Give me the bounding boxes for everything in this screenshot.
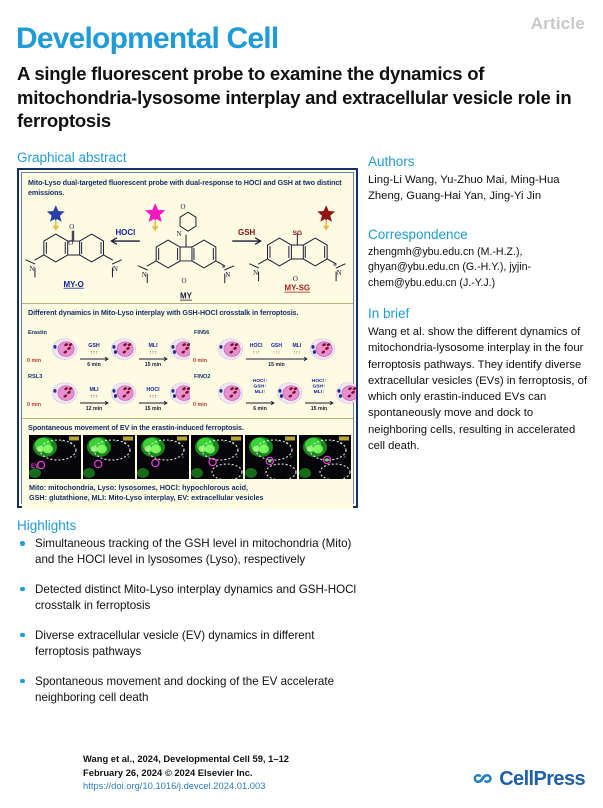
ga-panel1-caption: Mito-Lyso dual-targeted fluorescent prob… (28, 178, 350, 197)
bullet-icon (20, 633, 25, 638)
svg-text:↑↑↑: ↑↑↑ (273, 350, 281, 356)
ga-legend: Mito: mitochondria, Lyso: lysosomes, HOC… (29, 483, 351, 503)
svg-text:N: N (225, 271, 230, 279)
authors-heading: Authors (368, 154, 592, 169)
svg-text:N: N (142, 271, 147, 279)
ev-frame: EV (29, 435, 81, 479)
svg-text:↑↑↑: ↑↑↑ (90, 394, 99, 400)
svg-text:GSH: GSH (88, 343, 100, 349)
compound-my-label: MY (180, 292, 193, 301)
ev-frame (191, 435, 243, 479)
chemical-reaction-scheme: O O N N O N N N O O N N ⊕ ⊕ (22, 199, 353, 303)
svg-text:15 min: 15 min (145, 362, 161, 368)
reagent-hocl-label: HOCl (115, 228, 135, 237)
svg-text:↑↑↑: ↑↑↑ (90, 350, 99, 356)
correspondence-emails[interactable]: zhengmh@ybu.edu.cn (M.-H.Z.), ghyan@ybu.… (368, 245, 592, 291)
svg-text:↑↑↑: ↑↑↑ (149, 350, 158, 356)
pathway-diagram: GSH↑↑↑6 minMLI↑↑↑15 min (26, 330, 190, 373)
ga-panel-probe-chemistry: Mito-Lyso dual-targeted fluorescent prob… (22, 173, 353, 303)
ev-frame (83, 435, 135, 479)
svg-text:EV: EV (31, 464, 39, 470)
svg-text:↑↑↑: ↑↑↑ (293, 350, 301, 356)
svg-text:GSH: GSH (271, 343, 282, 349)
svg-text:MLI↑: MLI↑ (314, 389, 325, 395)
ga-legend-line2: GSH: glutathione, MLI: Mito-Lyso interpl… (29, 493, 351, 503)
cellpress-logo: CellPress (473, 768, 585, 791)
emission-star-blue (47, 205, 65, 229)
svg-text:⊕: ⊕ (333, 262, 337, 267)
graphical-abstract-heading: Graphical abstract (17, 150, 127, 165)
svg-text:N: N (29, 265, 34, 273)
in-brief-heading: In brief (368, 306, 592, 321)
pathway-panel-rsl3: RSL30 minMLI↑↑↑12 minHOCl↑↑↑15 min (26, 374, 190, 417)
authors-section: Authors Ling-Li Wang, Yu-Zhuo Mai, Ming-… (368, 154, 592, 205)
bullet-icon (20, 587, 25, 592)
svg-text:15 min: 15 min (268, 362, 284, 368)
pathway-panel-erastin: Erastin0 minGSH↑↑↑6 minMLI↑↑↑15 min (26, 330, 190, 373)
pathway-diagram: MLI↑↑↑12 minHOCl↑↑↑15 min (26, 374, 190, 417)
reagent-gsh-label: GSH (238, 228, 255, 237)
emission-star-darkred (317, 205, 335, 229)
svg-text:N: N (113, 265, 118, 273)
pathway-panel-fin56: FIN560 minHOCl↑↑↑GSH↑↑↑MLI↑↑↑15 min (192, 330, 356, 373)
cellpress-wordmark: CellPress (499, 768, 585, 791)
compound-my-sg-label: MY-SG (285, 284, 311, 293)
highlights-list: Simultaneous tracking of the GSH level i… (17, 536, 367, 720)
footer-citation: Wang et al., 2024, Developmental Cell 59… (83, 752, 289, 793)
emission-star-magenta (145, 203, 165, 229)
svg-text:HOCl↑: HOCl↑ (253, 378, 268, 384)
ga-panel3-caption: Spontaneous movement of EV in the erasti… (28, 423, 350, 433)
svg-text:O: O (68, 239, 73, 247)
ga-panel-ev-movement: Spontaneous movement of EV in the erasti… (22, 418, 353, 509)
svg-text:O: O (293, 275, 298, 283)
svg-text:15 min: 15 min (145, 406, 161, 412)
highlight-text: Detected distinct Mito-Lyso interplay dy… (35, 583, 356, 612)
doi-link[interactable]: https://doi.org/10.1016/j.devcel.2024.01… (83, 779, 289, 793)
ev-frame (137, 435, 189, 479)
ev-frame (245, 435, 297, 479)
svg-text:GSH↑: GSH↑ (253, 384, 266, 390)
svg-text:GSH↑: GSH↑ (312, 384, 325, 390)
svg-text:HOCl: HOCl (250, 343, 263, 349)
correspondence-section: Correspondence zhengmh@ybu.edu.cn (M.-H.… (368, 227, 592, 291)
highlight-item: Spontaneous movement and docking of the … (17, 674, 367, 707)
substituent-sg-label: SG (293, 230, 302, 237)
highlight-text: Simultaneous tracking of the GSH level i… (35, 537, 351, 566)
highlight-text: Spontaneous movement and docking of the … (35, 675, 334, 704)
svg-text:⊕: ⊕ (222, 264, 226, 269)
svg-text:12 min: 12 min (86, 406, 102, 412)
svg-text:15 min: 15 min (311, 406, 327, 412)
svg-text:O: O (69, 223, 74, 231)
ev-frame (299, 435, 351, 479)
pathway-diagram: HOCl↑GSH↑MLI↑6 minHOCl↑GSH↑MLI↑15 min (192, 374, 356, 417)
cellpress-mark-icon (473, 769, 495, 791)
article-first-page: Article Developmental Cell A single fluo… (0, 0, 603, 808)
authors-list: Ling-Li Wang, Yu-Zhuo Mai, Ming-Hua Zhen… (368, 172, 592, 205)
svg-text:MLI↑: MLI↑ (255, 389, 266, 395)
svg-text:6 min: 6 min (87, 362, 101, 368)
citation-line-1: Wang et al., 2024, Developmental Cell 59… (83, 752, 289, 766)
svg-text:MLI: MLI (292, 343, 301, 349)
svg-text:O: O (181, 203, 186, 211)
svg-text:6 min: 6 min (253, 406, 267, 412)
ga-panel-pathway-dynamics: Different dynamics in Mito-Lyso interpla… (22, 303, 353, 418)
svg-text:↑↑↑: ↑↑↑ (252, 350, 260, 356)
highlight-item: Detected distinct Mito-Lyso interplay dy… (17, 582, 367, 615)
svg-text:N: N (177, 230, 182, 238)
highlights-heading: Highlights (17, 518, 76, 533)
svg-text:N: N (253, 269, 258, 277)
in-brief-section: In brief Wang et al. show the different … (368, 306, 592, 454)
graphical-abstract-figure: Mito-Lyso dual-targeted fluorescent prob… (17, 168, 358, 508)
pathway-grid: Erastin0 minGSH↑↑↑6 minMLI↑↑↑15 minFIN56… (26, 330, 355, 416)
journal-title: Developmental Cell (16, 24, 278, 54)
bullet-icon (20, 679, 25, 684)
svg-text:HOCl: HOCl (146, 387, 160, 393)
article-type-label: Article (531, 14, 585, 34)
page-title: A single fluorescent probe to examine th… (17, 62, 590, 133)
ga-legend-line1: Mito: mitochondria, Lyso: lysosomes, HOC… (29, 483, 351, 493)
correspondence-heading: Correspondence (368, 227, 592, 242)
svg-text:HOCl↑: HOCl↑ (312, 378, 327, 384)
citation-line-2: February 26, 2024 © 2024 Elsevier Inc. (83, 766, 289, 780)
svg-text:↑↑↑: ↑↑↑ (149, 394, 158, 400)
svg-text:O: O (182, 277, 187, 285)
ev-timelapse-strip: EV (29, 435, 351, 479)
pathway-diagram: HOCl↑↑↑GSH↑↑↑MLI↑↑↑15 min (192, 330, 356, 373)
highlight-text: Diverse extracellular vesicle (EV) dynam… (35, 629, 314, 658)
highlight-item: Diverse extracellular vesicle (EV) dynam… (17, 628, 367, 661)
in-brief-text: Wang et al. show the different dynamics … (368, 324, 592, 454)
highlight-item: Simultaneous tracking of the GSH level i… (17, 536, 367, 569)
bullet-icon (20, 541, 25, 546)
svg-text:MLI: MLI (89, 387, 99, 393)
svg-text:N: N (337, 269, 342, 277)
pathway-panel-fino2: FINO20 minHOCl↑GSH↑MLI↑6 minHOCl↑GSH↑MLI… (192, 374, 356, 417)
ga-panel2-caption: Different dynamics in Mito-Lyso interpla… (28, 308, 350, 318)
compound-my-o-label: MY-O (64, 280, 84, 289)
svg-text:MLI: MLI (148, 343, 158, 349)
